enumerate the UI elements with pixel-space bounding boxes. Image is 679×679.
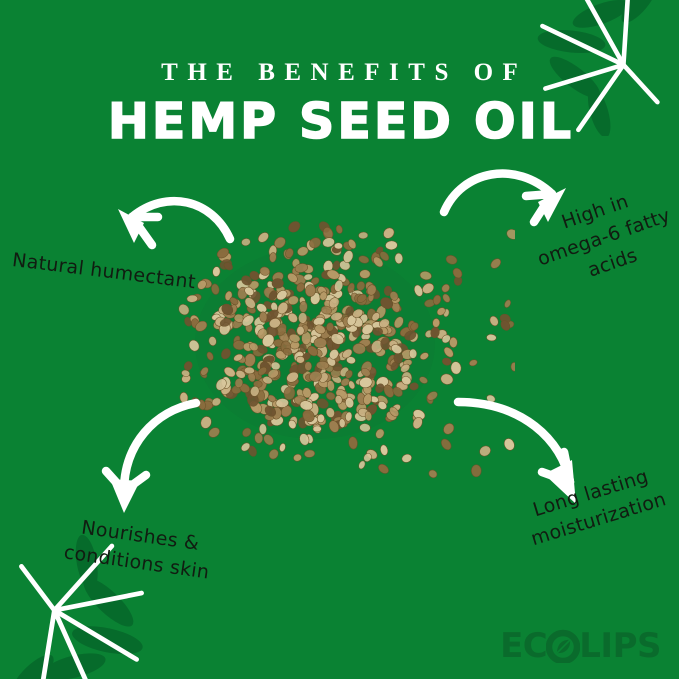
benefit-label-high-in-omega-6: High in omega-6 fatty acids — [520, 175, 679, 300]
benefit-label-nourishes-conditions-skin: Nourishes & conditions skin — [50, 511, 226, 588]
infographic-canvas: THE BENEFITS OF HEMP SEED OIL Natural hu… — [0, 0, 679, 679]
leaf-icon — [546, 629, 580, 663]
page-title: HEMP SEED OIL — [0, 96, 679, 149]
kicker-text: THE BENEFITS OF — [0, 60, 679, 85]
brand-logo-part-1: EC — [500, 629, 547, 663]
benefit-label-long-lasting-moisturization: Long lasting moisturization — [508, 457, 679, 557]
brand-logo: EC LIPS — [500, 627, 661, 665]
hemp-seeds-image — [175, 195, 515, 495]
brand-logo-part-2: LIPS — [579, 629, 661, 663]
benefit-label-natural-humectant: Natural humectant — [11, 247, 197, 296]
